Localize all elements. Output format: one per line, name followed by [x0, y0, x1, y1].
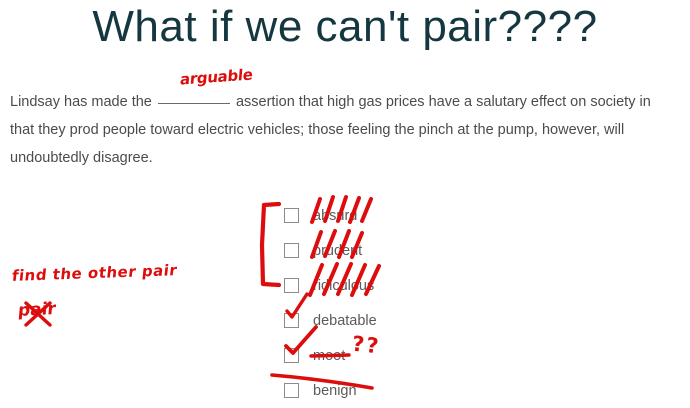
option-label-moot: moot: [313, 348, 345, 364]
bracket-grouping-icon: [262, 204, 279, 285]
checkbox-debatable[interactable]: [284, 313, 299, 328]
checkbox-absurd[interactable]: [284, 208, 299, 223]
option-row-absurd[interactable]: absurd: [284, 198, 377, 233]
annotation-arguable: arguable: [179, 65, 253, 88]
annotation-find-other-pair: find the other pair: [11, 261, 178, 285]
checkbox-prudent[interactable]: [284, 243, 299, 258]
option-row-benign[interactable]: benign: [284, 373, 377, 408]
option-label-absurd: absurd: [313, 208, 357, 224]
option-row-ridiculous[interactable]: ridiculous: [284, 268, 377, 303]
fill-in-blank: [158, 103, 230, 104]
slide-canvas: What if we can't pair???? Lindsay has ma…: [0, 0, 690, 408]
option-label-benign: benign: [313, 383, 357, 399]
option-row-prudent[interactable]: prudent: [284, 233, 377, 268]
checkbox-moot[interactable]: [284, 348, 299, 363]
option-label-ridiculous: ridiculous: [313, 278, 374, 294]
checkbox-benign[interactable]: [284, 383, 299, 398]
annotation-pair-crossed: pair: [17, 299, 57, 321]
question-paragraph: Lindsay has made the assertion that high…: [10, 88, 670, 172]
annotation-question-marks: ??: [351, 332, 382, 359]
option-label-debatable: debatable: [313, 313, 377, 329]
question-text-before-blank: Lindsay has made the: [10, 94, 152, 110]
page-title: What if we can't pair????: [0, 2, 690, 52]
option-label-prudent: prudent: [313, 243, 362, 259]
checkbox-ridiculous[interactable]: [284, 278, 299, 293]
answer-options-list: absurd prudent ridiculous debatable moot…: [284, 198, 377, 408]
